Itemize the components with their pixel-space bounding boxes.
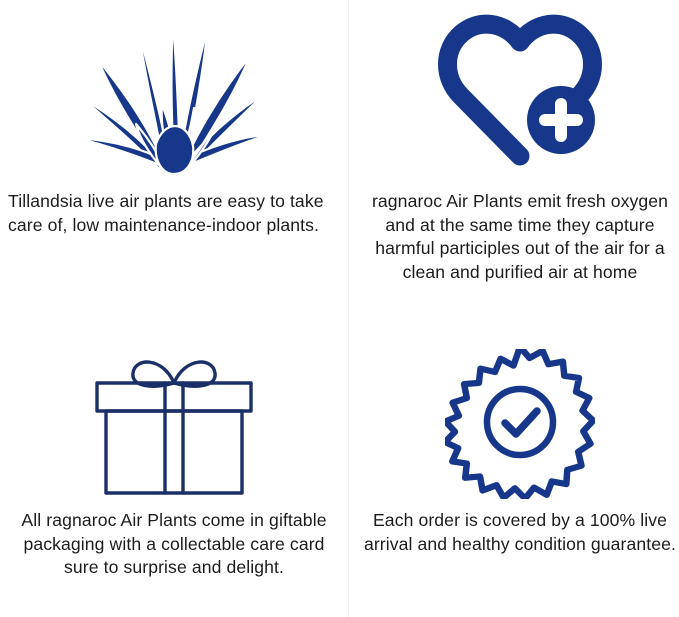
feature-cell-oxygen: ragnaroc Air Plants emit fresh oxygen an… — [348, 0, 679, 309]
feature-cell-care: Tillandsia live air plants are easy to t… — [0, 0, 348, 309]
heart-plus-icon-wrap — [363, 8, 677, 186]
feature-caption-guarantee: Each order is covered by a 100% live arr… — [363, 509, 677, 556]
feature-caption-oxygen: ragnaroc Air Plants emit fresh oxygen an… — [363, 190, 677, 284]
feature-caption-care: Tillandsia live air plants are easy to t… — [4, 190, 344, 237]
verified-badge-icon-wrap — [363, 349, 677, 499]
gift-box-icon-wrap — [4, 349, 344, 499]
air-plant-icon-wrap — [4, 8, 344, 186]
verified-badge-icon — [445, 349, 595, 499]
air-plant-icon — [74, 8, 274, 178]
feature-cell-guarantee: Each order is covered by a 100% live arr… — [348, 309, 679, 617]
feature-grid: Tillandsia live air plants are easy to t… — [0, 0, 679, 617]
feature-caption-packaging: All ragnaroc Air Plants come in giftable… — [4, 509, 344, 580]
gift-box-icon — [89, 349, 259, 499]
heart-plus-icon — [435, 8, 605, 168]
feature-cell-packaging: All ragnaroc Air Plants come in giftable… — [0, 309, 348, 617]
